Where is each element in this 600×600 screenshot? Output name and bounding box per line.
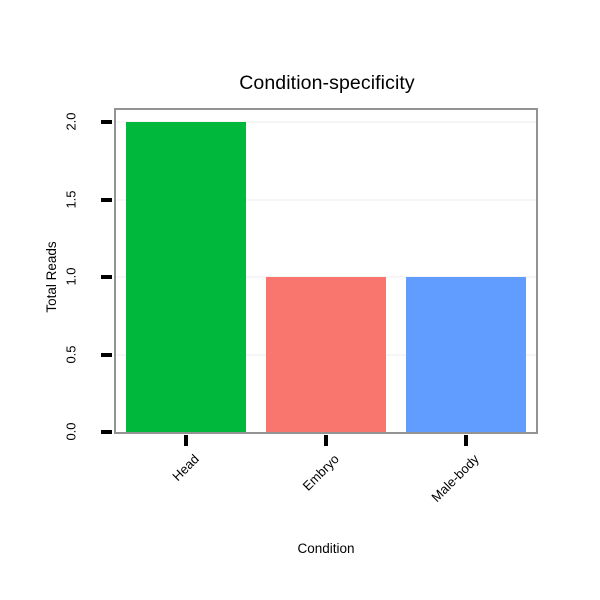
y-axis-tick-label: 1.0 bbox=[65, 260, 78, 294]
x-axis-tick-label: Head bbox=[65, 452, 202, 589]
y-axis-tick-label: 0.0 bbox=[65, 415, 78, 449]
x-axis-tick-label: Male-body bbox=[345, 452, 482, 589]
y-axis-tick-label: 2.0 bbox=[65, 105, 78, 139]
y-axis-tick bbox=[101, 198, 112, 202]
y-axis-tick bbox=[101, 353, 112, 357]
y-axis-tick bbox=[101, 120, 112, 124]
x-axis-title: Condition bbox=[26, 541, 600, 556]
y-axis-tick bbox=[101, 430, 112, 434]
bar-chart: Condition-specificity 0.00.51.01.52.0Hea… bbox=[0, 0, 600, 600]
plot-panel bbox=[114, 108, 538, 434]
x-axis-tick bbox=[324, 435, 328, 446]
bar-male-body bbox=[406, 277, 526, 432]
bar-head bbox=[126, 122, 246, 432]
x-axis-tick bbox=[464, 435, 468, 446]
bar-embryo bbox=[266, 277, 386, 432]
x-axis-tick bbox=[184, 435, 188, 446]
y-axis-tick-label: 0.5 bbox=[65, 337, 78, 371]
chart-title: Condition-specificity bbox=[27, 72, 600, 94]
y-axis-title: Total Reads bbox=[45, 241, 59, 312]
y-axis-tick-label: 1.5 bbox=[65, 182, 78, 216]
x-axis-tick-label: Embryo bbox=[205, 452, 342, 589]
y-axis-tick bbox=[101, 275, 112, 279]
